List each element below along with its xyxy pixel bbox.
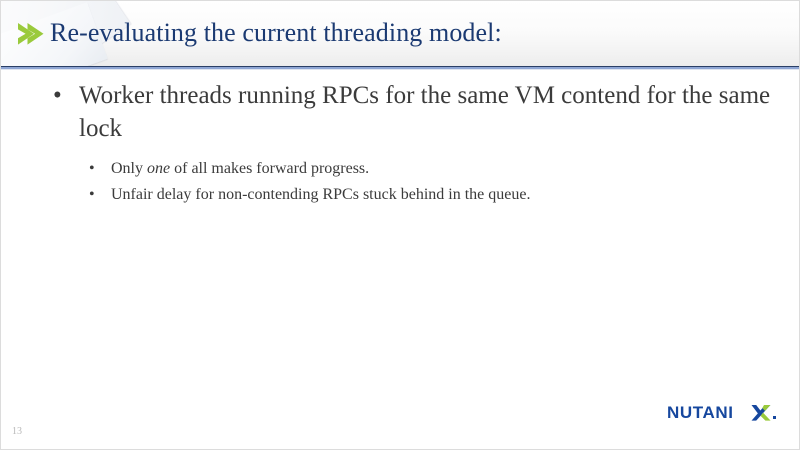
sub-bullet-emphasis: one bbox=[147, 160, 170, 177]
slide-body: • Worker threads running RPCs for the sa… bbox=[1, 79, 800, 208]
logo-x-icon bbox=[751, 404, 771, 422]
list-item: • Unfair delay for non-contending RPCs s… bbox=[1, 182, 800, 208]
list-item: • Only one of all makes forward progress… bbox=[1, 156, 800, 182]
slide-header: Re-evaluating the current threading mode… bbox=[1, 1, 800, 67]
presentation-slide: Re-evaluating the current threading mode… bbox=[0, 0, 800, 450]
list-item: • Worker threads running RPCs for the sa… bbox=[1, 79, 800, 145]
bullet-marker: • bbox=[53, 79, 62, 112]
divider-line-fade bbox=[1, 69, 800, 70]
logo-trademark-dot bbox=[773, 416, 776, 419]
page-title: Re-evaluating the current threading mode… bbox=[50, 13, 502, 53]
slide-number: 13 bbox=[12, 426, 22, 437]
bullet-text: Worker threads running RPCs for the same… bbox=[79, 79, 771, 145]
sub-bullet-text-before: Unfair delay for non-contending RPCs stu… bbox=[111, 186, 530, 203]
bullet-marker: • bbox=[89, 156, 95, 182]
sub-bullet-list: • Only one of all makes forward progress… bbox=[1, 156, 800, 208]
chevron-right-icon bbox=[14, 20, 44, 48]
sub-bullet-text-after: of all makes forward progress. bbox=[170, 160, 369, 177]
logo-wordmark: NUTANI bbox=[667, 403, 734, 423]
header-divider bbox=[1, 66, 800, 70]
nutanix-logo: NUTANI bbox=[667, 403, 779, 427]
bullet-marker: • bbox=[89, 182, 95, 208]
sub-bullet-text-before: Only bbox=[111, 160, 147, 177]
